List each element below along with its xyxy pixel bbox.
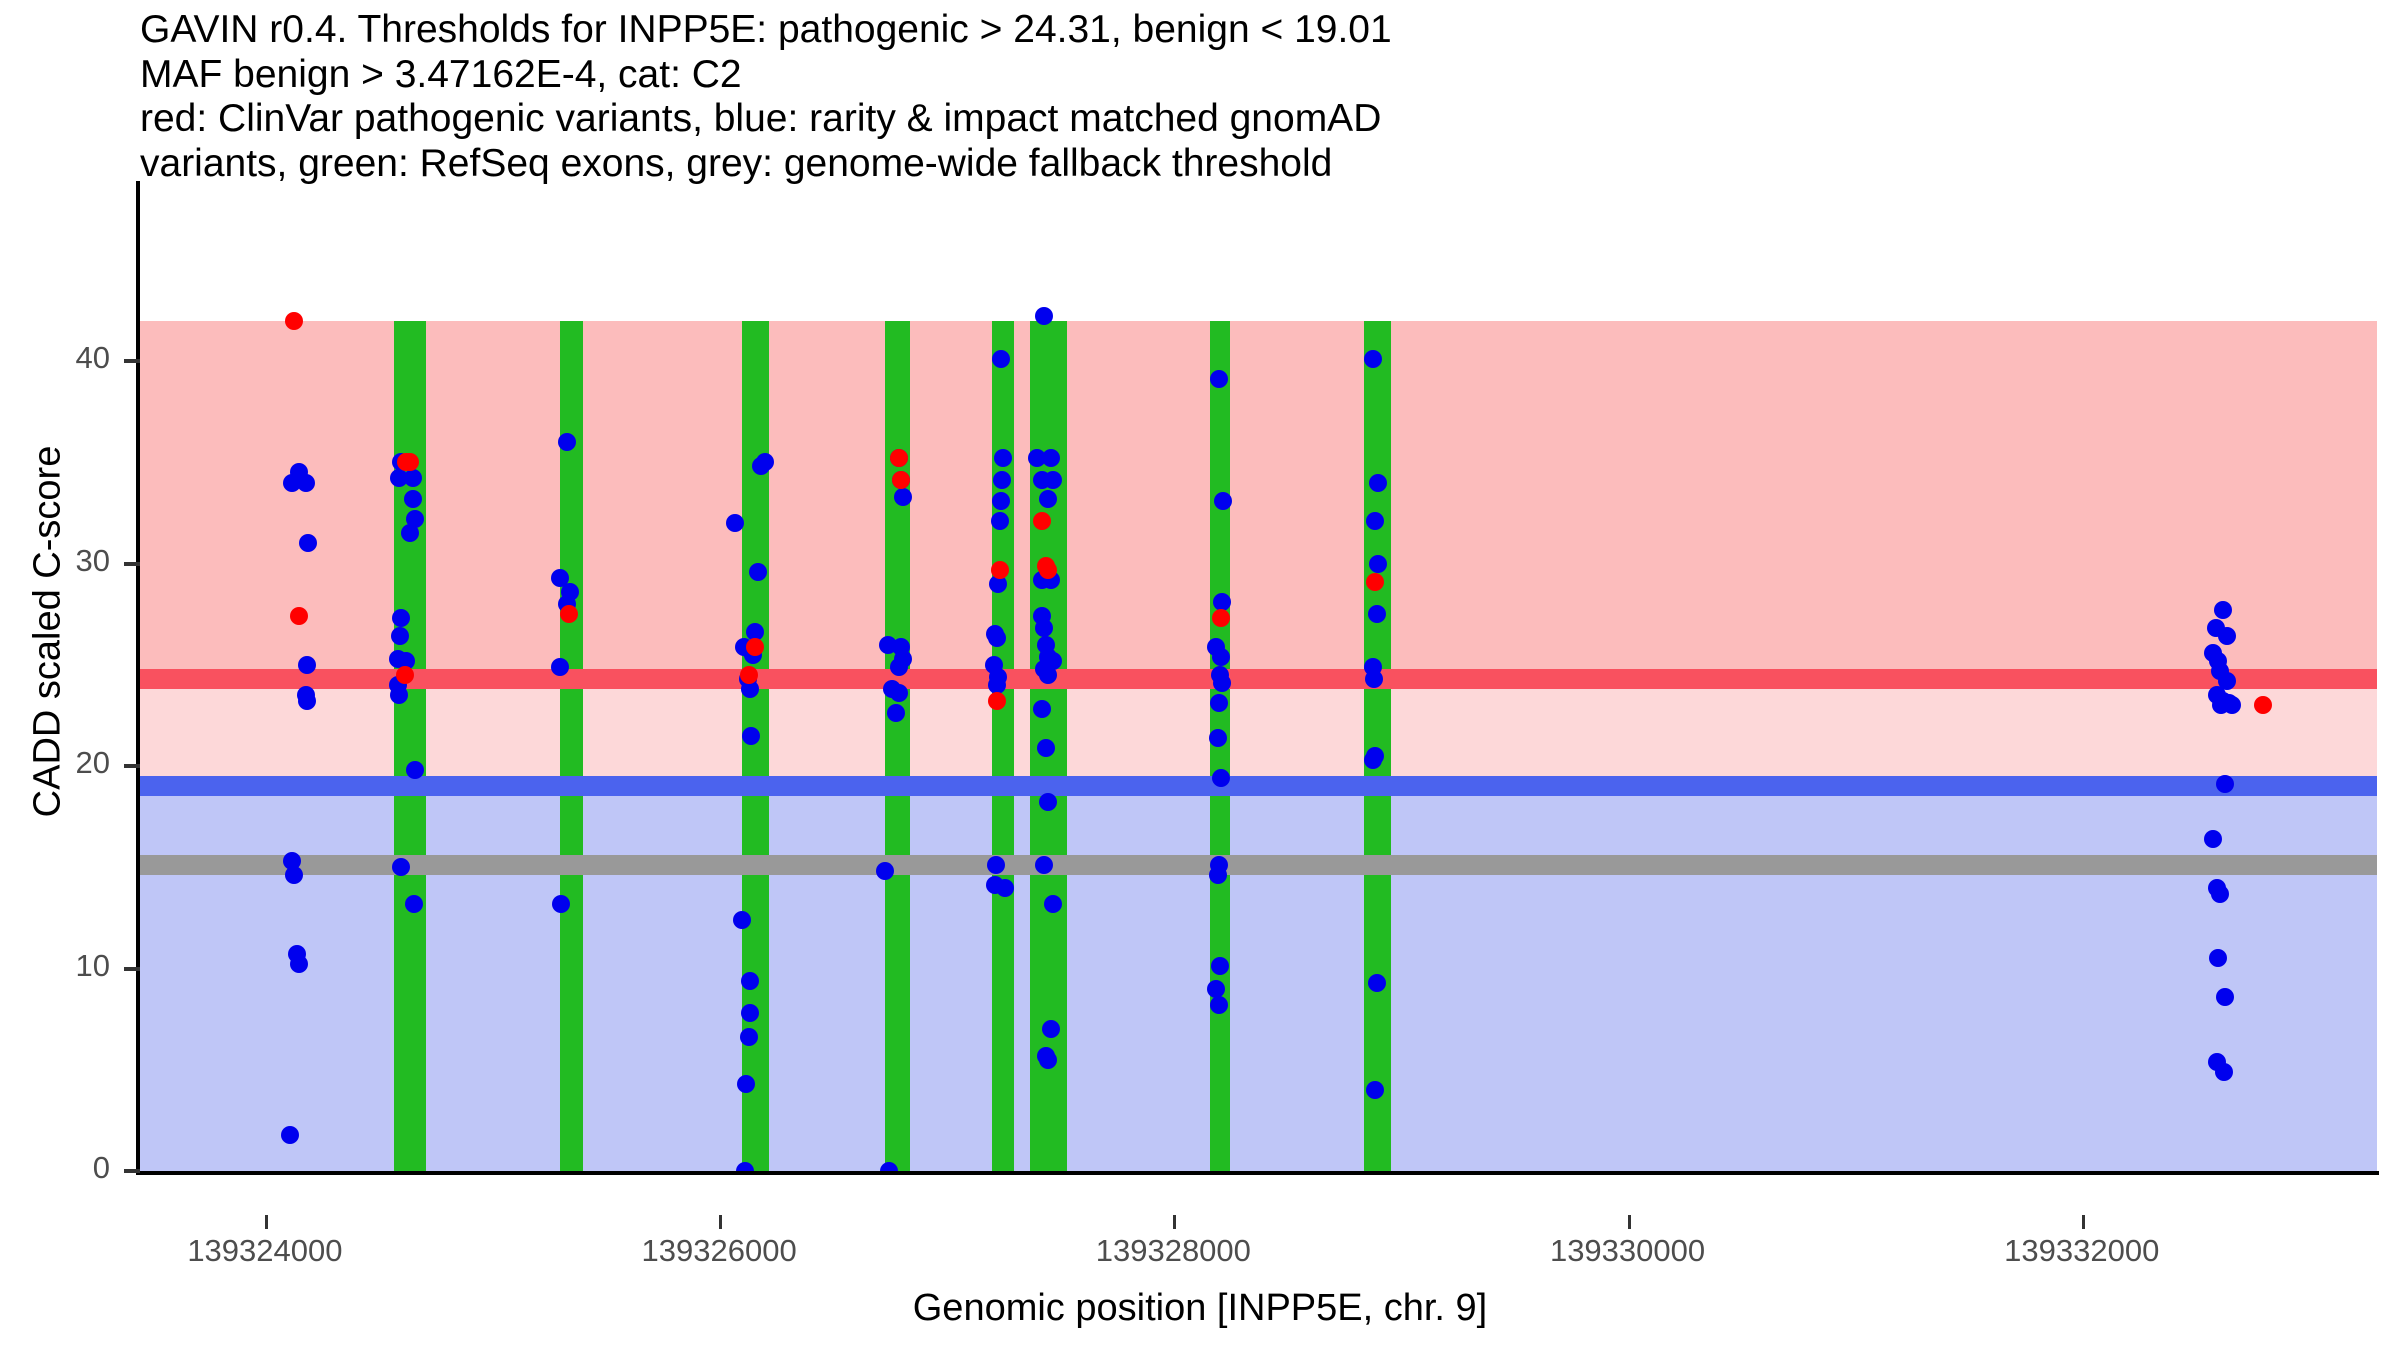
fallback-threshold (140, 855, 2377, 875)
gnomad-variant-point (1042, 1020, 1060, 1038)
x-axis-line (136, 1171, 2379, 1175)
gnomad-variant-point (551, 658, 569, 676)
gnomad-variant-point (1368, 974, 1386, 992)
gnomad-variant-point (742, 727, 760, 745)
benign-region (140, 786, 2377, 1171)
clinvar-pathogenic-point (746, 638, 764, 656)
gnomad-variant-point (2223, 696, 2241, 714)
y-axis-tick (124, 1169, 140, 1173)
gnomad-variant-point (405, 895, 423, 913)
clinvar-pathogenic-point (991, 561, 1009, 579)
gnomad-variant-point (741, 1004, 759, 1022)
gnomad-variant-point (2215, 1063, 2233, 1081)
x-axis-tick (2082, 1215, 2085, 1229)
plot-area (140, 181, 2377, 1171)
clinvar-pathogenic-point (1033, 512, 1051, 530)
clinvar-pathogenic-point (285, 312, 303, 330)
gnomad-variant-point (552, 895, 570, 913)
gnomad-variant-point (1209, 729, 1227, 747)
gnomad-variant-point (733, 911, 751, 929)
x-axis-tick (265, 1215, 268, 1229)
gnomad-variant-point (1033, 700, 1051, 718)
clinvar-pathogenic-point (290, 607, 308, 625)
gnomad-variant-point (2216, 988, 2234, 1006)
clinvar-pathogenic-point (740, 666, 758, 684)
refseq-exon-band (1364, 321, 1391, 1172)
gnomad-variant-point (1044, 895, 1062, 913)
x-axis-tick-label: 139332000 (1932, 1233, 2232, 1269)
x-axis-tick-label: 139324000 (115, 1233, 415, 1269)
gnomad-variant-point (1369, 555, 1387, 573)
gnomad-variant-point (740, 1028, 758, 1046)
x-axis-tick (1173, 1215, 1176, 1229)
gnomad-variant-point (741, 972, 759, 990)
gnomad-variant-point (1368, 605, 1386, 623)
y-axis-label: CADD scaled C-score (27, 182, 70, 1082)
y-axis-tick-label: 0 (10, 1150, 110, 1186)
gnomad-variant-point (1210, 370, 1228, 388)
pathogenic-region (140, 321, 2377, 679)
benign-threshold (140, 776, 2377, 796)
gnomad-variant-point (1369, 474, 1387, 492)
gnomad-variant-point (2211, 885, 2229, 903)
gnomad-variant-point (558, 433, 576, 451)
gnomad-variant-point (894, 488, 912, 506)
gnomad-variant-point (1209, 866, 1227, 884)
gnomad-variant-point (1214, 492, 1232, 510)
plot-panel (140, 181, 2377, 1171)
x-axis-tick-label: 139330000 (1478, 1233, 1778, 1269)
gnomad-variant-point (1037, 739, 1055, 757)
title-line-1: GAVIN r0.4. Thresholds for INPP5E: patho… (140, 8, 2290, 53)
title-line-2: MAF benign > 3.47162E-4, cat: C2 (140, 53, 2290, 98)
title-line-4: variants, green: RefSeq exons, grey: gen… (140, 142, 2290, 187)
clinvar-pathogenic-point (396, 666, 414, 684)
refseq-exon-band (885, 321, 910, 1172)
gnomad-variant-point (298, 692, 316, 710)
clinvar-pathogenic-point (1039, 561, 1057, 579)
gnomad-variant-point (726, 514, 744, 532)
gnomad-variant-point (2216, 775, 2234, 793)
gnomad-variant-point (406, 761, 424, 779)
gnomad-variant-point (992, 350, 1010, 368)
gnomad-variant-point (996, 879, 1014, 897)
x-axis-tick-label: 139326000 (569, 1233, 869, 1269)
gnomad-variant-point (298, 656, 316, 674)
gnomad-variant-point (1042, 449, 1060, 467)
pathogenic-threshold (140, 669, 2377, 689)
gnomad-variant-point (1039, 1051, 1057, 1069)
y-axis-tick (124, 562, 140, 566)
gnomad-variant-point (1210, 694, 1228, 712)
y-axis-line (136, 181, 140, 1174)
y-axis-tick (124, 967, 140, 971)
gnomad-variant-point (991, 512, 1009, 530)
chart-title-block: GAVIN r0.4. Thresholds for INPP5E: patho… (140, 8, 2290, 186)
refseq-exon-band (394, 321, 426, 1172)
gnomad-variant-point (390, 686, 408, 704)
x-axis-label: Genomic position [INPP5E, chr. 9] (0, 1287, 2400, 1330)
gnomad-variant-point (992, 492, 1010, 510)
gnomad-variant-point (890, 658, 908, 676)
gnomad-variant-point (1039, 490, 1057, 508)
refseq-exon-band (992, 321, 1015, 1172)
y-axis-tick (124, 764, 140, 768)
vus-region (140, 679, 2377, 786)
x-axis-tick (1628, 1215, 1631, 1229)
gnomad-variant-point (1210, 996, 1228, 1014)
gnomad-variant-point (281, 1126, 299, 1144)
gnomad-variant-point (890, 684, 908, 702)
gnomad-variant-point (1213, 674, 1231, 692)
y-axis-tick (124, 359, 140, 363)
gnomad-variant-point (1035, 856, 1053, 874)
gnomad-variant-point (404, 490, 422, 508)
x-axis-tick (719, 1215, 722, 1229)
chart-root: GAVIN r0.4. Thresholds for INPP5E: patho… (0, 0, 2400, 1350)
x-axis-tick-label: 139328000 (1023, 1233, 1323, 1269)
gnomad-variant-point (1212, 648, 1230, 666)
gnomad-variant-point (1364, 751, 1382, 769)
gnomad-variant-point (749, 563, 767, 581)
gnomad-variant-point (2214, 601, 2232, 619)
clinvar-pathogenic-point (890, 449, 908, 467)
gnomad-variant-point (404, 469, 422, 487)
title-line-3: red: ClinVar pathogenic variants, blue: … (140, 97, 2290, 142)
